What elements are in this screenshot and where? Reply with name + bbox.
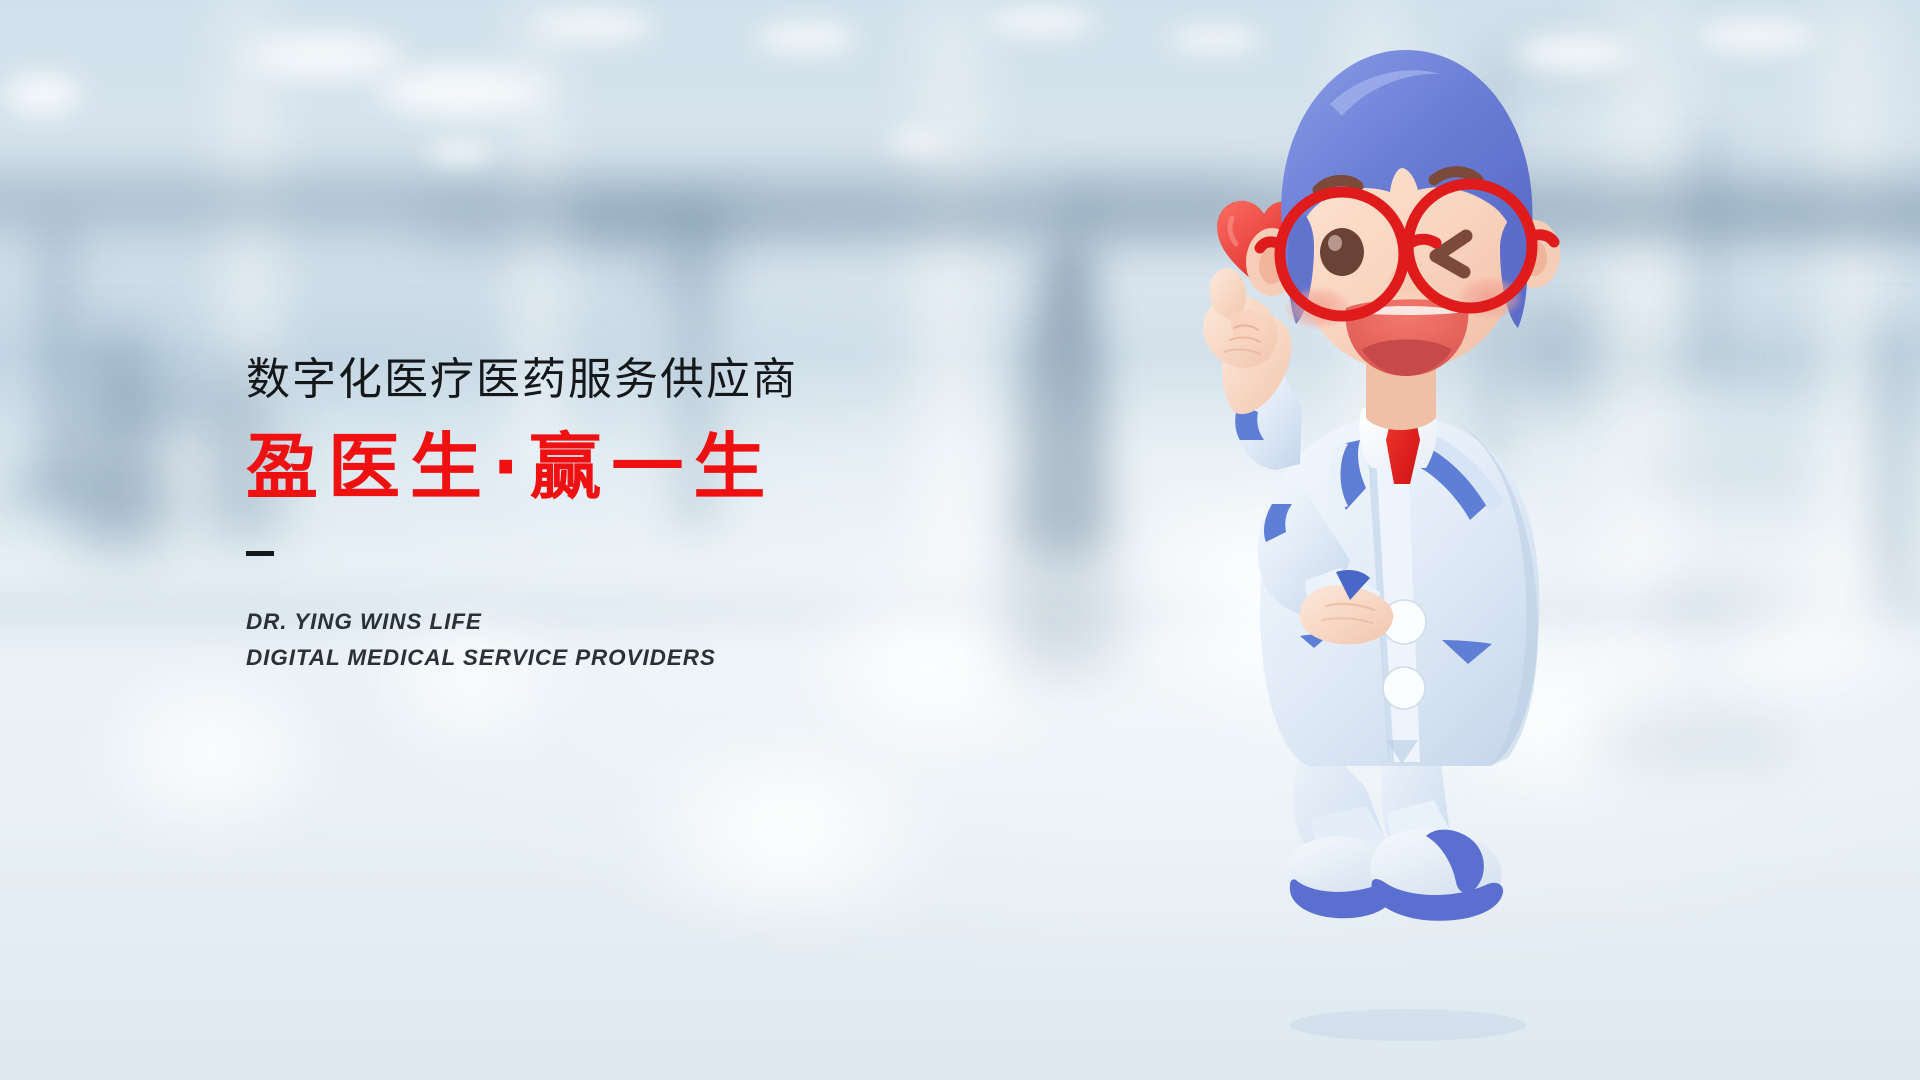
background-figure-2 (86, 324, 151, 421)
english-line-2: DIGITAL MEDICAL SERVICE PROVIDERS (246, 640, 1006, 676)
slogan: 盈医生·赢一生 (246, 428, 1006, 507)
shoe-front (1370, 829, 1503, 921)
hero-copy: 数字化医疗医药服务供应商 盈医生·赢一生 DR. YING WINS LIFE … (246, 355, 1006, 677)
english-line-1: DR. YING WINS LIFE (246, 604, 1006, 640)
page-title: 数字化医疗医药服务供应商 (246, 355, 1006, 406)
english-subtitle-block: DR. YING WINS LIFE DIGITAL MEDICAL SERVI… (246, 604, 1006, 677)
divider (246, 551, 274, 556)
hero-banner: 数字化医疗医药服务供应商 盈医生·赢一生 DR. YING WINS LIFE … (0, 0, 1920, 1080)
background-figure (1041, 243, 1091, 313)
doctor-mascot-illustration (1190, 40, 1670, 1050)
